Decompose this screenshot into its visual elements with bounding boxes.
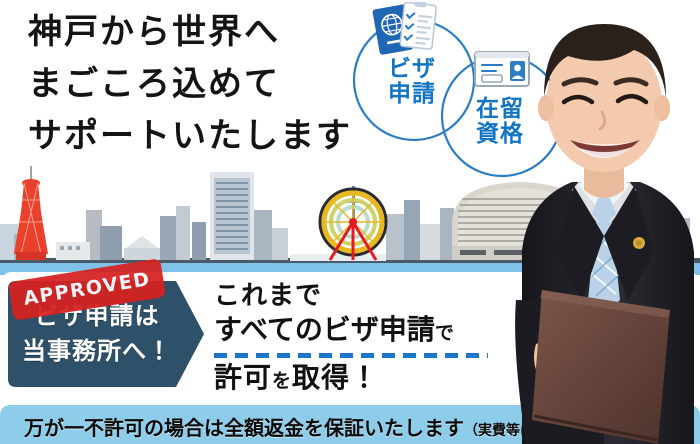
message-line-2: すべてのビザ申請で [214,311,488,352]
message-line-3-small: を [272,371,292,392]
message-line-3: 許可を取得！ [214,360,488,400]
page-title: 神戸から世界へ まごころ込めて サポートいたします [28,6,388,162]
smiling-businessman-photo [508,0,700,444]
central-tower [210,172,254,260]
office-cta-line-2: 当事務所へ！ [22,334,172,369]
message-line-2-main: すべてのビザ申請 [214,314,435,345]
headline-line-3: サポートいたします [28,110,388,162]
ferris-wheel [320,189,386,260]
visa-consultation-banner: 神戸から世界へ まごころ込めて サポートいたします [0,0,700,444]
leather-folder [532,290,670,444]
headline-line-2: まごころ込めて [28,58,388,110]
message-line-3-main: 許可 [214,362,272,393]
guarantee-main-text: 万が一不許可の場合は全額返金を保証いたします [24,418,464,440]
message-line-1: これまで [214,279,488,311]
message-line-3-main2: 取得！ [292,362,379,393]
message-dashed-underline [214,353,488,358]
kobe-port-tower [14,166,48,260]
message-line-2-small: で [435,323,454,344]
headline-line-1: 神戸から世界へ [28,6,388,58]
track-record-message: これまで すべてのビザ申請で 許可を取得！ [214,279,488,400]
